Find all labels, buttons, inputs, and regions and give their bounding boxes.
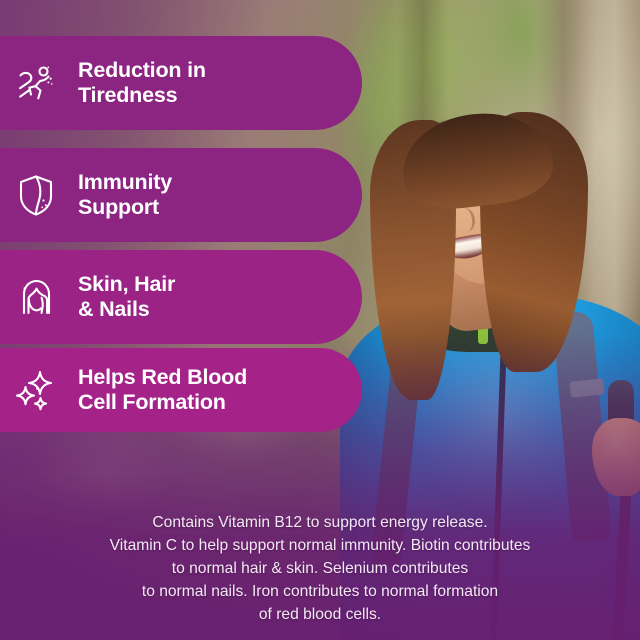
woman-face-hair-icon bbox=[10, 271, 62, 323]
benefit-pill-immunity-support: Immunity Support bbox=[0, 148, 362, 242]
benefit-label: Immunity Support bbox=[78, 170, 172, 220]
benefit-label: Helps Red Blood Cell Formation bbox=[78, 365, 247, 415]
shield-icon bbox=[10, 169, 62, 221]
benefit-label: Skin, Hair & Nails bbox=[78, 272, 175, 322]
running-person-icon bbox=[10, 57, 62, 109]
benefit-label: Reduction in Tiredness bbox=[78, 58, 206, 108]
product-benefit-banner: Reduction in Tiredness Immunity Support bbox=[0, 0, 640, 640]
benefit-pill-reduction-in-tiredness: Reduction in Tiredness bbox=[0, 36, 362, 130]
benefit-pill-helps-red-blood-cell-formation: Helps Red Blood Cell Formation bbox=[0, 348, 362, 432]
benefit-pill-skin-hair-nails: Skin, Hair & Nails bbox=[0, 250, 362, 344]
legal-footnote-text: Contains Vitamin B12 to support energy r… bbox=[0, 511, 640, 626]
sparkles-icon bbox=[10, 364, 62, 416]
